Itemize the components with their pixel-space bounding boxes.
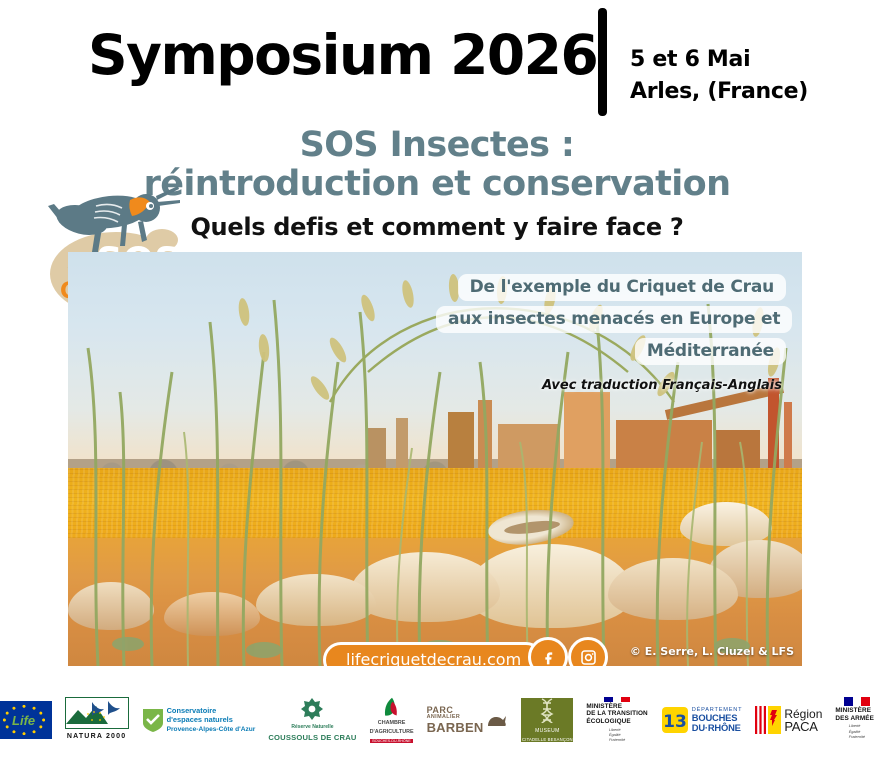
departement-13-badge-icon: 13 [661,706,689,734]
ministere-armees-line-2: DES ARMÉES [835,715,874,723]
ministere-te-line-2: DE LA TRANSITION [586,710,647,718]
skyline-building [616,420,712,474]
illustration-overlay-text: De l'exemple du Criquet de Crau aux inse… [436,274,786,370]
page-title: Symposium 2026 [88,28,597,83]
chambre-agriculture-icon [377,697,407,717]
overlay-line-1: De l'exemple du Criquet de Crau [458,274,786,301]
partner-logo-departement-13: 13 DÉPARTEMENT BOUCHES DU·RHÔNE [661,697,743,743]
paca-emblem-icon [755,706,781,734]
chambre-line-2: D'AGRICULTURE [370,729,414,735]
poster-header: Symposium 2026 5 et 6 Mai Arles, (France… [0,0,874,125]
title-divider-rule [598,8,607,116]
partner-logo-museum-besancon: MUSEUM CITADELLE BESANÇON [521,698,573,742]
partner-logo-strip: Life NATURA 2000 [0,686,874,754]
svg-text:13: 13 [663,712,687,732]
cen-line-1: Conservatoire [167,706,256,715]
partner-logo-natura-2000: NATURA 2000 [65,697,129,743]
paca-line-2: PACA [784,720,822,733]
barben-line-3: BARBEN [427,721,484,734]
event-date-location: 5 et 6 Mai Arles, (France) [630,44,808,108]
partner-logo-ministere-transition-ecologique: MINISTÈRE DE LA TRANSITION ÉCOLOGIQUE Li… [586,697,647,743]
poster-root: Symposium 2026 5 et 6 Mai Arles, (France… [0,0,874,768]
factory-chimney [784,402,792,474]
eu-flag-icon: Life [0,701,52,739]
skyline-building [478,400,492,474]
partner-logo-region-paca: Région PACA [755,697,822,743]
partner-logo-reserve-coussouls: Réserve Naturelle COUSSOULS DE CRAU [268,697,356,743]
translation-note: Avec traduction Français-Anglais [542,378,782,393]
ministere-te-devise: Liberté Égalité Fraternité [609,728,625,743]
paca-label: Région PACA [784,708,822,733]
chambre-line-3: BOUCHES-DU-RHÔNE [370,739,412,743]
french-flag-icon [844,697,870,706]
cen-line-2: d'espaces naturels [167,715,256,724]
skyline-building [498,424,560,474]
image-credit: © E. Serre, L. Cluzel & LFS [630,645,794,658]
ministere-te-line-3: ÉCOLOGIQUE [586,718,647,726]
paca-line-1: Région [784,708,822,720]
subtitle-line-1: SOS Insectes : [0,126,874,165]
ministere-te-line-1: MINISTÈRE [586,703,647,711]
ministere-armees-line-1: MINISTÈRE [835,707,874,715]
natura-2000-label: NATURA 2000 [67,733,127,740]
dna-icon [539,698,555,724]
event-date: 5 et 6 Mai [630,44,808,76]
event-location: Arles, (France) [630,76,808,108]
overlay-line-3: Méditerranée [635,338,786,365]
skyline-building [448,412,474,474]
partner-logo-ministere-armees: MINISTÈRE DES ARMÉES Liberté Égalité Fra… [835,697,874,743]
partner-logo-life-eu: Life [0,697,52,743]
barben-label: PARC ANIMALIER BARBEN [427,706,484,733]
cen-region: Provence-Alpes-Côte d'Azur [167,726,256,734]
departement-line-3: DU·RHÔNE [692,723,743,733]
museum-line-1: MUSEUM [535,728,560,734]
website-link[interactable]: lifecriquetdecrau.com [323,642,544,666]
partner-logo-parc-barben: PARC ANIMALIER BARBEN [427,697,509,743]
departement-label: DÉPARTEMENT BOUCHES DU·RHÔNE [692,707,743,734]
chambre-line-1: CHAMBRE [378,720,406,726]
ministere-armees-devise: Liberté Égalité Fraternité [849,724,865,739]
cen-label: Conservatoire d'espaces naturels Provenc… [167,706,256,734]
overlay-line-2: aux insectes menacés en Europe et [436,306,792,333]
crau-landscape-illustration: De l'exemple du Criquet de Crau aux inse… [68,252,802,666]
reserve-naturelle-icon [300,697,324,721]
rhino-icon [486,710,508,730]
museum-line-2: CITADELLE BESANÇON [522,737,573,742]
french-flag-icon [604,697,630,702]
partner-logo-chambre-agriculture: CHAMBRE D'AGRICULTURE BOUCHES-DU-RHÔNE [370,697,414,743]
skyline-building [564,392,610,474]
cen-shield-icon [142,707,164,733]
reserve-small-label: Réserve Naturelle [291,724,333,730]
skyline-building [396,418,408,474]
partner-logo-conservatoire: Conservatoire d'espaces naturels Provenc… [142,697,256,743]
ministere-te-label: MINISTÈRE DE LA TRANSITION ÉCOLOGIQUE [586,703,647,726]
life-label: Life [12,713,35,728]
limestone-stone [164,592,260,636]
reserve-name-label: COUSSOULS DE CRAU [268,733,356,742]
natura-bird-icon [65,697,129,729]
ministere-armees-label: MINISTÈRE DES ARMÉES [835,707,874,722]
